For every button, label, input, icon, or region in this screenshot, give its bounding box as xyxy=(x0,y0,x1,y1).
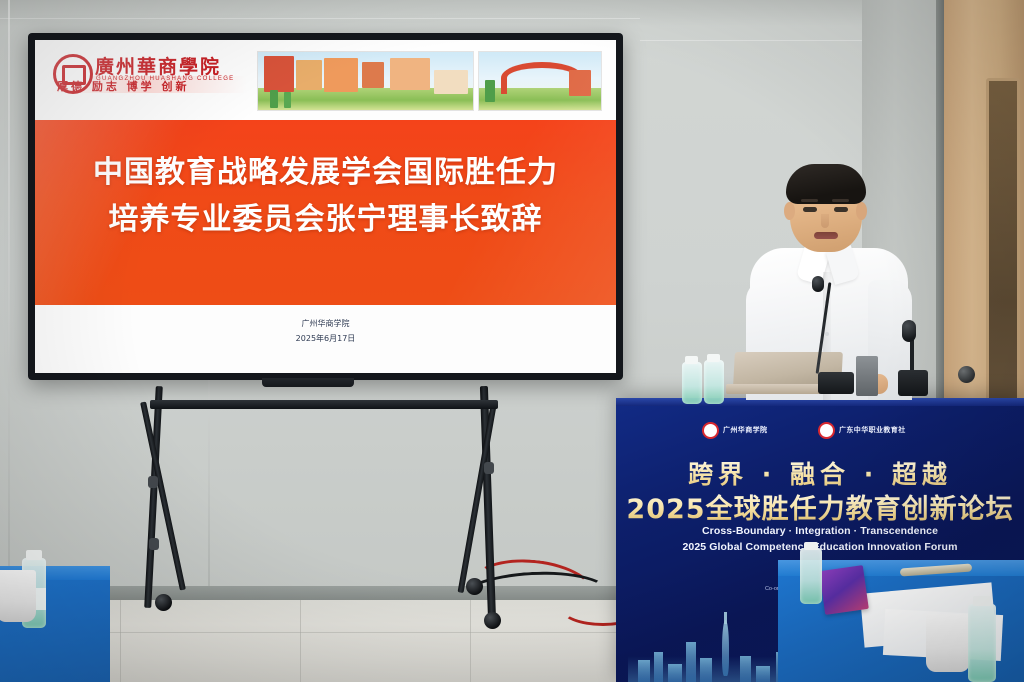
speaker-eyebrow-right xyxy=(832,199,849,202)
microphone-secondary-head xyxy=(902,320,916,342)
slide-footer-text: 广州华商学院 2025年6月17日 xyxy=(35,317,616,347)
wall-line xyxy=(640,40,870,41)
wall-line xyxy=(0,18,640,19)
bottle-cap xyxy=(973,596,991,606)
leg-joint xyxy=(149,538,159,550)
floor-grout xyxy=(300,600,301,682)
water-bottle[interactable] xyxy=(682,362,702,404)
podium-logo-left-label: 广州华商学院 xyxy=(723,425,767,435)
floor-grout xyxy=(120,600,121,682)
speaker-eye-left xyxy=(803,207,817,212)
podium-logo-left: 广州华商学院 xyxy=(702,419,767,441)
bottle-cap xyxy=(685,356,698,364)
slide-footer-org: 广州华商学院 xyxy=(35,317,616,332)
audio-speaker-unit xyxy=(856,356,878,396)
microphone-head xyxy=(812,276,824,292)
campus-photo-right xyxy=(478,51,602,111)
display-chin-mount xyxy=(262,378,354,387)
stand-caster xyxy=(484,612,501,629)
water-bottle[interactable] xyxy=(800,548,822,604)
tv-stand-crossbar xyxy=(150,400,498,409)
slide-title-line1: 中国教育战略发展学会国际胜任力 xyxy=(35,150,616,197)
speaker-ear-right xyxy=(856,202,867,220)
slide-footer: 广州华商学院 2025年6月17日 xyxy=(35,305,616,373)
podium-logo-right: 广东中华职业教育社 xyxy=(818,419,906,441)
leg-joint xyxy=(148,476,158,488)
huashang-seal-icon xyxy=(702,422,719,439)
speaker-ear-left xyxy=(784,202,795,220)
door-knob[interactable] xyxy=(958,366,975,383)
speaker-hair xyxy=(786,164,866,204)
speaker-eyebrow-left xyxy=(801,199,818,202)
bottle-cap xyxy=(707,354,720,362)
leg-joint xyxy=(484,462,494,474)
stand-caster xyxy=(155,594,172,611)
speaker-mouth xyxy=(814,232,838,239)
slide-title-line2: 培养专业委员会张宁理事长致辞 xyxy=(35,197,616,244)
water-bottle[interactable] xyxy=(704,360,724,404)
microphone-base[interactable] xyxy=(818,372,854,394)
speaker-nose xyxy=(821,214,829,228)
display-screen[interactable]: 廣州華商學院 GUANGZHOU HUASHANG COLLEGE 厚德 励志 … xyxy=(28,33,623,380)
wall-seam xyxy=(8,0,10,620)
slide-title: 中国教育战略发展学会国际胜任力 培养专业委员会张宁理事长致辞 xyxy=(35,150,616,243)
stand-caster xyxy=(466,578,483,595)
canton-tower-spire xyxy=(724,612,727,624)
partner-seal-icon xyxy=(818,422,835,439)
podium-logo-right-label: 广东中华职业教育社 xyxy=(839,425,906,435)
speaker-eye-right xyxy=(834,207,848,212)
water-bottle[interactable] xyxy=(968,604,996,682)
forum-headline-en: Cross-Boundary · Integration · Transcend… xyxy=(616,524,1024,540)
paper-cup[interactable] xyxy=(926,614,970,672)
bottle-cap xyxy=(804,542,818,550)
bottle-cap xyxy=(26,550,42,560)
slide-header: 廣州華商學院 GUANGZHOU HUASHANG COLLEGE 厚德 励志 … xyxy=(35,40,616,120)
shirt-button xyxy=(825,332,829,336)
slide-footer-date: 2025年6月17日 xyxy=(35,332,616,347)
microphone-secondary-base[interactable] xyxy=(898,370,928,396)
forum-headline-cn: 跨界 · 融合 · 超越 xyxy=(616,455,1024,491)
forum-subhead-cn: 2025全球胜任力教育创新论坛 xyxy=(616,487,1024,526)
slide-canvas: 廣州華商學院 GUANGZHOU HUASHANG COLLEGE 厚德 励志 … xyxy=(35,40,616,373)
delegate-name-card[interactable] xyxy=(819,565,869,615)
campus-photo-left xyxy=(257,51,474,111)
college-name-cn: 廣州華商學院 xyxy=(95,52,221,79)
conference-scene: 廣州華商學院 GUANGZHOU HUASHANG COLLEGE 厚德 励志 … xyxy=(0,0,1024,682)
slide-title-band: 中国教育战略发展学会国际胜任力 培养专业委员会张宁理事长致辞 xyxy=(35,120,616,305)
paper-cup[interactable] xyxy=(0,570,36,622)
college-motto: 厚德 励志 博学 创新 xyxy=(57,78,190,94)
microphone-secondary-stem xyxy=(910,338,914,372)
podium-logos: 广州华商学院 广东中华职业教育社 xyxy=(702,419,924,443)
